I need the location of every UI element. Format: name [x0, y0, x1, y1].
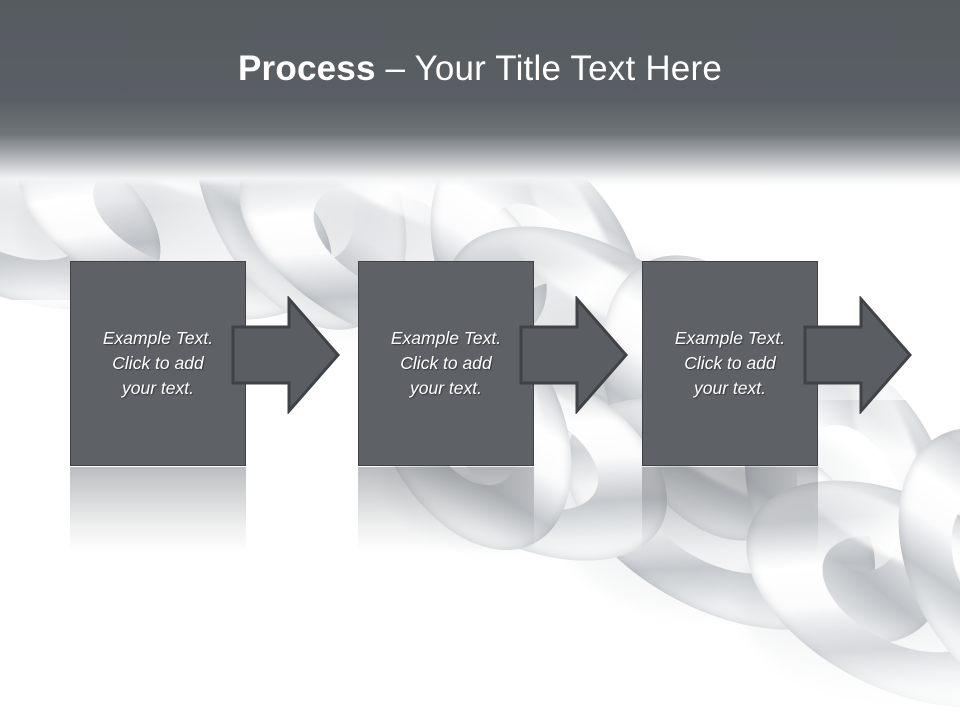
slide-canvas: Process – Your Title Text Here Example T…	[0, 0, 960, 720]
step-2-box[interactable]: Example Text. Click to add your text.	[358, 261, 534, 466]
step-2-text: Example Text. Click to add your text.	[371, 326, 521, 401]
page-title-rest: – Your Title Text Here	[376, 49, 722, 88]
step-3-next-arrow-icon	[803, 296, 913, 414]
step-1-box[interactable]: Example Text. Click to add your text.	[70, 261, 246, 466]
step-1-next-arrow-icon	[231, 296, 341, 414]
step-2-next-arrow-icon	[519, 296, 629, 414]
step-3-text: Example Text. Click to add your text.	[655, 326, 805, 401]
step-1-text: Example Text. Click to add your text.	[83, 326, 233, 401]
page-title: Process – Your Title Text Here	[0, 47, 960, 91]
page-title-bold: Process	[238, 49, 376, 88]
step-3-box[interactable]: Example Text. Click to add your text.	[642, 261, 818, 466]
